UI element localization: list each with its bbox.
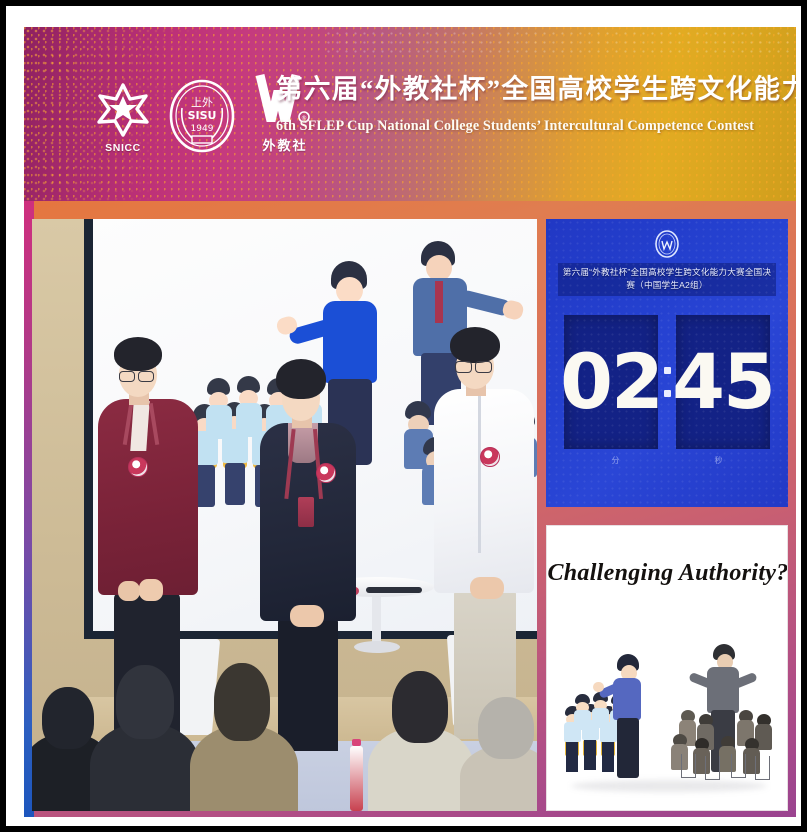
- slide-scene-classroom: [565, 644, 657, 794]
- audience-foreground: [32, 621, 537, 811]
- audience-member: [190, 649, 298, 811]
- timer-display: 02 45: [564, 315, 770, 449]
- timer-unit-minutes: 分: [612, 455, 620, 466]
- colon-dot-bottom: [664, 390, 671, 397]
- stage-photo-panel: [32, 219, 537, 811]
- sisu-logo: 上外 SISU 1949: [168, 78, 236, 154]
- timer-minutes-group: 02: [564, 315, 658, 449]
- timer-unit-row: 分 秒: [564, 455, 770, 466]
- banner-title-english: 6th SFLEP Cup National College Students’…: [276, 118, 776, 135]
- contestant-id-card: [298, 497, 314, 527]
- svg-text:SISU: SISU: [188, 109, 217, 122]
- contestant-badge: [316, 463, 336, 483]
- banner-text-block: 第六届“外教社杯”全国高校学生跨文化能力大赛决赛 6th SFLEP Cup N…: [276, 74, 776, 135]
- svg-text:1949: 1949: [191, 124, 214, 134]
- water-bottle: [350, 739, 363, 811]
- eyeglasses-icon: [138, 371, 154, 382]
- slide-illustration: [547, 636, 788, 804]
- svg-text:上外: 上外: [191, 96, 213, 109]
- slide-title: Challenging Authority?: [547, 560, 788, 587]
- photo-outer-frame: SNICC 上外 SISU 1949: [0, 0, 807, 832]
- snicc-logo-caption: SNICC: [105, 142, 141, 154]
- audience-member: [90, 653, 200, 811]
- timer-seconds: 45: [672, 344, 774, 420]
- event-banner: SNICC 上外 SISU 1949: [24, 27, 796, 201]
- photo-canvas: SNICC 上外 SISU 1949: [24, 27, 796, 817]
- sflep-logo-caption: 外教社: [262, 135, 307, 154]
- banner-title-chinese: 第六届“外教社杯”全国高校学生跨文化能力大赛决赛: [276, 74, 776, 105]
- countdown-timer-panel: 第六届“外教社杯”全国高校学生跨文化能力大赛全国决赛（中国学生A2组） 02 4…: [546, 219, 788, 507]
- photo-white-mat: SNICC 上外 SISU 1949: [6, 6, 801, 826]
- contestant-badge: [480, 447, 500, 467]
- contestant-badge: [128, 457, 148, 477]
- timer-seal-icon: [653, 229, 681, 259]
- snicc-logo: SNICC: [96, 82, 150, 154]
- banner-dot-pattern-top: [324, 29, 794, 55]
- eyeglasses-icon: [119, 371, 135, 382]
- timer-unit-seconds: 秒: [715, 455, 723, 466]
- timer-seconds-group: 45: [676, 315, 770, 449]
- sisu-seal-icon: 上外 SISU 1949: [168, 78, 236, 154]
- snicc-star-icon: [96, 82, 150, 138]
- eyeglasses-icon: [475, 361, 492, 373]
- timer-minutes: 02: [560, 344, 662, 420]
- colon-dot-top: [664, 367, 671, 374]
- table-microphone: [366, 587, 422, 593]
- eyeglasses-icon: [455, 361, 472, 373]
- slide-scene-meeting: [675, 636, 779, 796]
- presentation-slide-panel: Challenging Authority?: [546, 525, 788, 811]
- venue-area: 第六届“外教社杯”全国高校学生跨文化能力大赛全国决赛（中国学生A2组） 02 4…: [24, 201, 796, 817]
- timer-heading: 第六届“外教社杯”全国高校学生跨文化能力大赛全国决赛（中国学生A2组）: [558, 263, 776, 296]
- audience-member: [460, 691, 537, 811]
- audience-member: [368, 661, 474, 811]
